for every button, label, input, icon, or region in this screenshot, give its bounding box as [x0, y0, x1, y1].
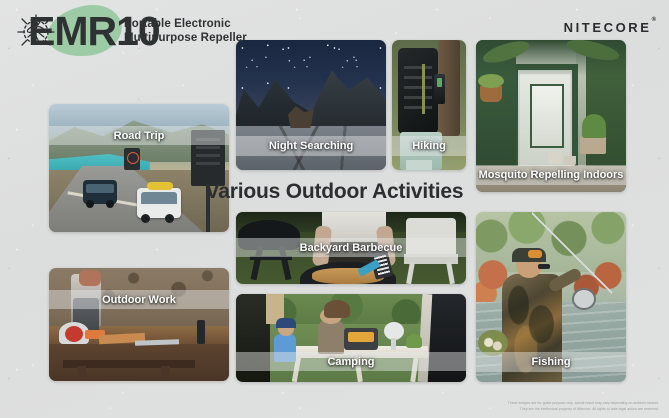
card-label-road-trip: Road Trip — [114, 130, 165, 142]
subtitle-line-1: Portable Electronic — [124, 18, 247, 32]
backyard-barbecue-label-band: Backyard Barbecue — [236, 238, 466, 257]
registered-trademark-symbol: ® — [652, 17, 656, 23]
card-label-outdoor-work: Outdoor Work — [102, 294, 176, 306]
card-backyard-barbecue[interactable]: Backyard Barbecue — [236, 212, 466, 284]
page-title: Various Outdoor Activities — [0, 180, 669, 204]
disclaimer: These images are for guide purpose only,… — [449, 401, 659, 412]
night-searching-label-band: Night Searching — [236, 136, 386, 156]
card-label-night-searching: Night Searching — [269, 140, 353, 152]
card-hiking[interactable]: Hiking — [392, 40, 466, 170]
card-label-backyard-barbecue: Backyard Barbecue — [300, 242, 403, 254]
outdoor-work-label-band: Outdoor Work — [49, 290, 229, 309]
outdoor-work-photo — [49, 268, 229, 381]
card-mosquito-indoors[interactable]: Mosquito Repelling Indoors — [476, 40, 626, 192]
card-label-hiking: Hiking — [412, 140, 446, 152]
poster-canvas: EMR10 Portable Electronic Multipurpose R… — [0, 0, 669, 418]
card-road-trip[interactable]: Road Trip — [49, 104, 229, 232]
fishing-label-band: Fishing — [476, 352, 626, 372]
card-fishing[interactable]: Fishing — [476, 212, 626, 382]
card-outdoor-work[interactable]: Outdoor Work — [49, 268, 229, 381]
road-trip-photo — [49, 104, 229, 232]
card-label-fishing: Fishing — [531, 356, 570, 368]
camping-label-band: Camping — [236, 352, 466, 371]
hiking-label-band: Hiking — [392, 136, 466, 156]
road-trip-label-band: Road Trip — [49, 126, 229, 145]
product-subtitle: Portable Electronic Multipurpose Repelle… — [124, 18, 247, 45]
card-camping[interactable]: Camping — [236, 294, 466, 382]
brand-logo: NITECORE® — [564, 20, 656, 35]
card-label-camping: Camping — [327, 356, 374, 368]
subtitle-line-2: Multipurpose Repeller — [124, 32, 247, 46]
card-night-searching[interactable]: Night Searching — [236, 40, 386, 170]
brand-name: NITECORE — [564, 20, 652, 35]
disclaimer-line-2: They are the intellectual property of Ni… — [449, 407, 659, 412]
